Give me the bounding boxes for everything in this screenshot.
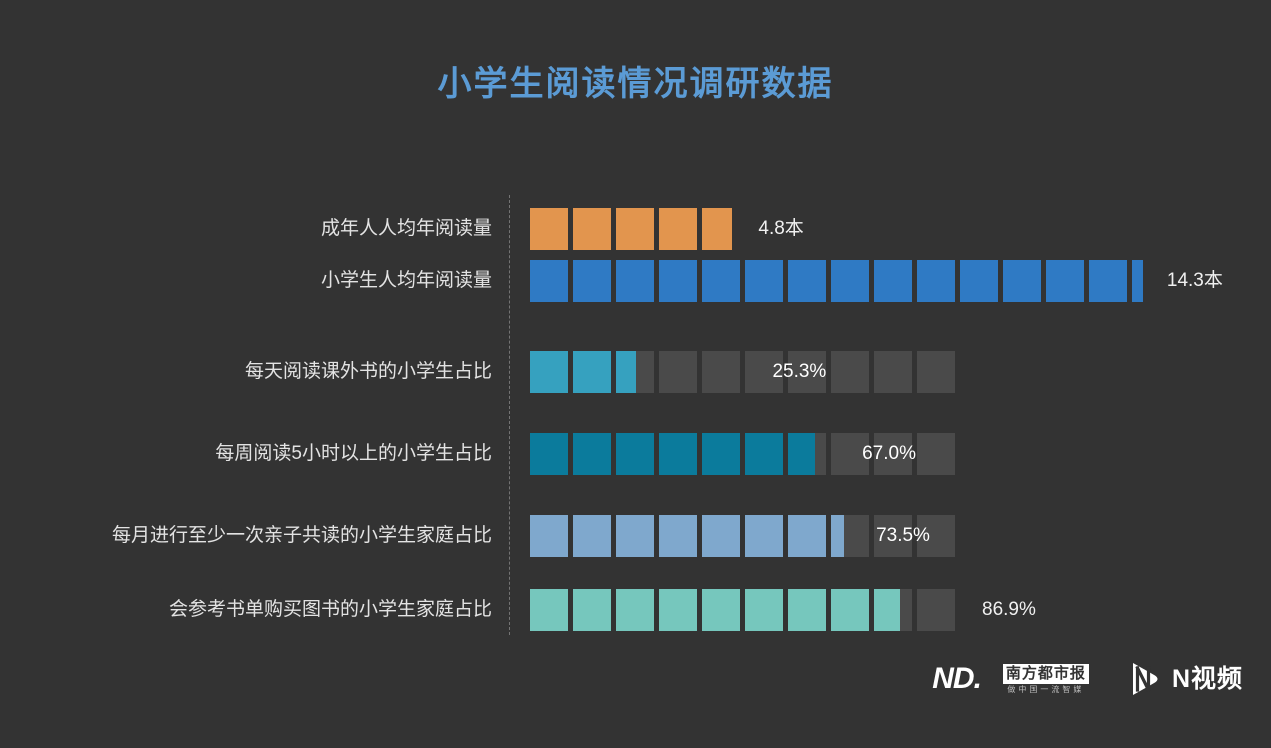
chart-row: 每月进行至少一次亲子共读的小学生家庭占比73.5% (0, 515, 1271, 557)
value-segment (917, 260, 955, 302)
track-segment (702, 351, 740, 393)
value-segment (659, 208, 697, 250)
value-segment (530, 260, 568, 302)
publisher-slogan: 做中国一流智媒 (1007, 686, 1084, 694)
row-value-label: 4.8本 (758, 208, 803, 250)
row-value-label: 73.5% (876, 515, 930, 557)
chart-row: 成年人人均年阅读量4.8本 (0, 208, 1271, 250)
value-segment (831, 589, 869, 631)
value-segment (530, 589, 568, 631)
track-segment (917, 433, 955, 475)
value-segment (659, 260, 697, 302)
row-value-label: 67.0% (862, 433, 916, 475)
track-segment (831, 351, 869, 393)
value-segment (659, 433, 697, 475)
track-segment (874, 351, 912, 393)
value-segment (616, 433, 654, 475)
track-segment (659, 351, 697, 393)
value-segment (573, 515, 611, 557)
value-segment (573, 208, 611, 250)
value-segment (573, 589, 611, 631)
row-track (530, 208, 745, 250)
value-segment (573, 433, 611, 475)
value-segment (616, 515, 654, 557)
value-segment (702, 260, 740, 302)
chart-row: 会参考书单购买图书的小学生家庭占比86.9% (0, 589, 1271, 631)
value-segment (745, 589, 783, 631)
value-segment (573, 351, 611, 393)
track-segment (917, 589, 955, 631)
chart-row: 每周阅读5小时以上的小学生占比67.0% (0, 433, 1271, 475)
value-segment (960, 260, 998, 302)
row-label: 每月进行至少一次亲子共读的小学生家庭占比 (112, 515, 492, 557)
value-segment (702, 589, 740, 631)
value-segment (788, 260, 826, 302)
value-segment (573, 260, 611, 302)
row-track (530, 260, 1175, 302)
row-label: 每周阅读5小时以上的小学生占比 (215, 433, 492, 475)
infographic-page: 小学生阅读情况调研数据 成年人人均年阅读量4.8本小学生人均年阅读量14.3本每… (0, 0, 1271, 748)
publisher-logo: 南方都市报 做中国一流智媒 (1003, 664, 1089, 694)
value-segment (616, 260, 654, 302)
footer: ND. 南方都市报 做中国一流智媒 N视频 (0, 660, 1271, 720)
row-value-label: 86.9% (982, 589, 1036, 631)
nd-logo: ND. (932, 664, 981, 694)
value-segment (1003, 260, 1041, 302)
row-value-label: 25.3% (772, 351, 826, 393)
value-segment (530, 433, 568, 475)
value-segment (831, 260, 869, 302)
value-segment (874, 589, 900, 631)
value-segment (788, 433, 815, 475)
value-segment (530, 351, 568, 393)
chart-row: 每天阅读课外书的小学生占比25.3% (0, 351, 1271, 393)
value-segment (702, 208, 732, 250)
value-segment (616, 589, 654, 631)
n-video-logo: N视频 (1125, 660, 1243, 698)
value-segment (616, 351, 636, 393)
publisher-name: 南方都市报 (1003, 664, 1089, 684)
value-segment (788, 589, 826, 631)
page-title: 小学生阅读情况调研数据 (0, 56, 1271, 105)
value-segment (745, 260, 783, 302)
value-segment (702, 433, 740, 475)
row-label: 会参考书单购买图书的小学生家庭占比 (169, 589, 492, 631)
value-segment (659, 515, 697, 557)
chart-area: 成年人人均年阅读量4.8本小学生人均年阅读量14.3本每天阅读课外书的小学生占比… (0, 185, 1271, 640)
value-segment (1046, 260, 1084, 302)
value-segment (616, 208, 654, 250)
value-segment (745, 515, 783, 557)
row-label: 每天阅读课外书的小学生占比 (245, 351, 492, 393)
play-n-icon (1125, 660, 1163, 698)
value-segment (530, 515, 568, 557)
logo-group: ND. 南方都市报 做中国一流智媒 N视频 (932, 660, 1243, 698)
value-segment (1132, 260, 1143, 302)
row-value-label: 14.3本 (1167, 260, 1223, 302)
value-segment (702, 515, 740, 557)
value-segment (831, 515, 844, 557)
value-segment (659, 589, 697, 631)
value-segment (530, 208, 568, 250)
value-segment (745, 433, 783, 475)
value-segment (788, 515, 826, 557)
n-video-label: N视频 (1172, 667, 1243, 692)
row-label: 成年人人均年阅读量 (321, 208, 492, 250)
value-segment (874, 260, 912, 302)
row-label: 小学生人均年阅读量 (321, 260, 492, 302)
chart-row: 小学生人均年阅读量14.3本 (0, 260, 1271, 302)
value-segment (1089, 260, 1127, 302)
row-track (530, 589, 960, 631)
row-track (530, 351, 960, 393)
track-segment (917, 351, 955, 393)
